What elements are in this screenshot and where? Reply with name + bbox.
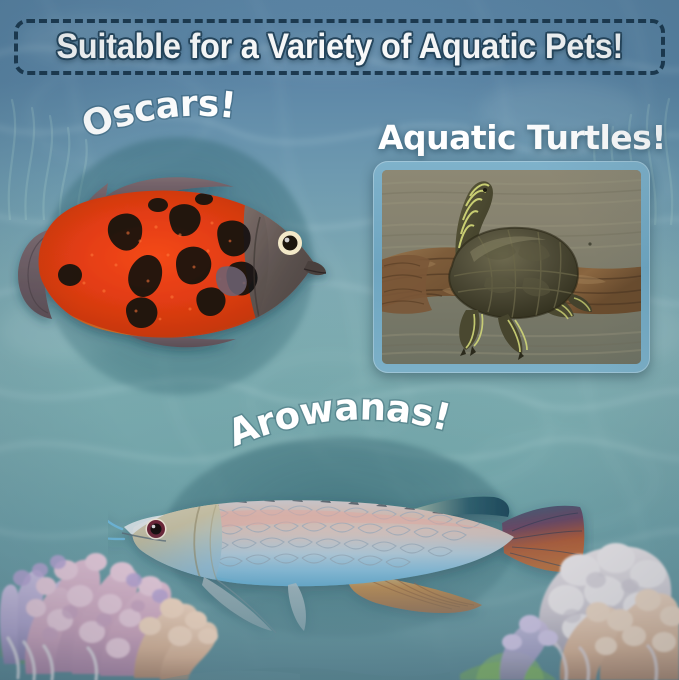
turtle-photo-frame xyxy=(373,161,650,373)
oscar-fish-icon xyxy=(8,163,348,363)
label-arowanas-text: Arowanas! xyxy=(222,385,455,455)
svg-text:Arowanas!: Arowanas! xyxy=(222,385,455,455)
arowana-fish-icon xyxy=(108,455,594,640)
label-oscars-text: Oscars! xyxy=(77,84,238,147)
page-title: Suitable for a Variety of Aquatic Pets! xyxy=(56,27,623,67)
label-arowanas: Arowanas! xyxy=(228,396,468,460)
banner-frame: Suitable for a Variety of Aquatic Pets! xyxy=(14,19,665,75)
label-aquatic-turtles: Aquatic Turtles! xyxy=(378,118,666,157)
label-oscars: Oscars! xyxy=(78,92,278,152)
promotional-infographic: Suitable for a Variety of Aquatic Pets! … xyxy=(0,0,679,680)
svg-text:Oscars!: Oscars! xyxy=(77,84,238,147)
turtle-photo xyxy=(382,170,641,364)
turtle-icon xyxy=(382,170,641,364)
